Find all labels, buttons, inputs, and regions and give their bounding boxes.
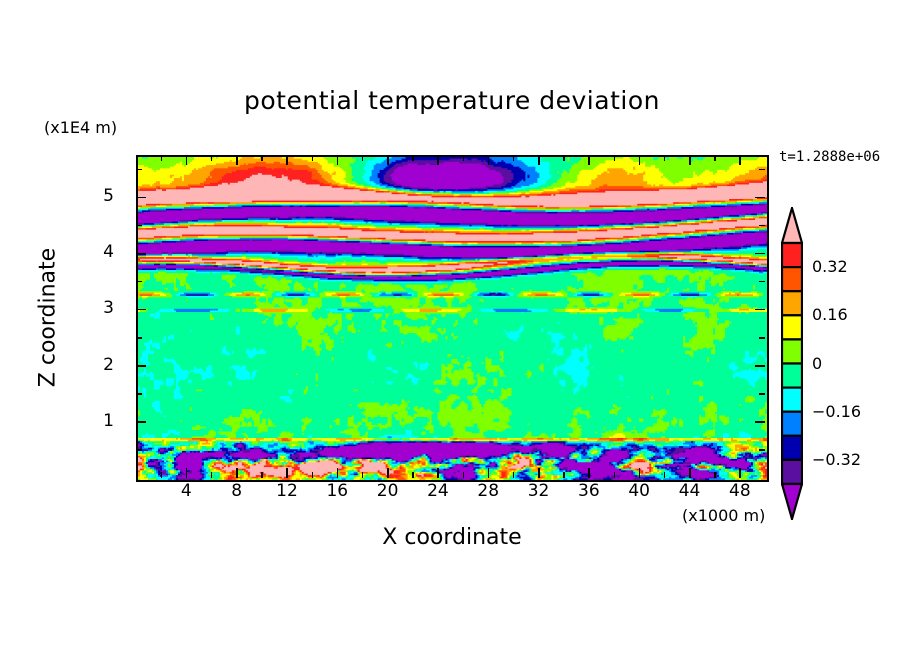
colorbar-tick-3: −0.16: [812, 402, 861, 421]
axis-tick: [755, 421, 765, 423]
z-units-label: (x1E4 m): [44, 118, 117, 137]
colorbar[interactable]: [781, 207, 803, 520]
axis-tick: [362, 472, 364, 478]
colorbar-band-4: [782, 339, 802, 363]
axis-tick: [463, 155, 465, 161]
colorbar-tick-4: −0.32: [812, 450, 861, 469]
axis-tick: [639, 155, 641, 165]
axis-tick: [759, 225, 765, 227]
x-tick-label-8: 8: [217, 481, 257, 501]
axis-tick: [261, 472, 263, 478]
axis-tick: [387, 155, 389, 165]
x-axis-label: X coordinate: [0, 525, 904, 550]
axis-tick: [714, 472, 716, 478]
axis-tick: [689, 155, 691, 165]
x-tick-label-44: 44: [670, 481, 710, 501]
y-tick-label-4: 4: [88, 242, 114, 262]
colorbar-band-9: [782, 460, 802, 484]
x-tick-label-36: 36: [569, 481, 609, 501]
axis-tick: [759, 337, 765, 339]
axis-tick: [437, 155, 439, 165]
x-tick-label-4: 4: [166, 481, 206, 501]
axis-tick: [689, 468, 691, 478]
colorbar-band-7: [782, 412, 802, 436]
axis-tick: [136, 365, 146, 367]
x-tick-label-20: 20: [368, 481, 408, 501]
axis-tick: [614, 472, 616, 478]
axis-tick: [739, 155, 741, 165]
axis-tick: [312, 155, 314, 161]
axis-tick: [211, 472, 213, 478]
axis-tick: [211, 155, 213, 161]
x-tick-label-12: 12: [267, 481, 307, 501]
axis-tick: [739, 468, 741, 478]
axis-tick: [714, 155, 716, 161]
axis-tick: [136, 309, 146, 311]
axis-tick: [639, 468, 641, 478]
axis-tick: [759, 281, 765, 283]
axis-tick: [236, 468, 238, 478]
axis-tick: [312, 472, 314, 478]
axis-tick: [588, 155, 590, 165]
axis-tick: [136, 197, 146, 199]
axis-tick: [412, 155, 414, 161]
axis-tick: [755, 365, 765, 367]
axis-tick: [286, 468, 288, 478]
axis-tick: [161, 155, 163, 161]
contour-plot-area[interactable]: [136, 155, 769, 482]
axis-tick: [513, 155, 515, 161]
axis-tick: [488, 468, 490, 478]
colorbar-tick-2: 0: [812, 354, 822, 373]
axis-tick: [755, 253, 765, 255]
axis-tick: [755, 197, 765, 199]
axis-tick: [588, 468, 590, 478]
axis-tick: [387, 468, 389, 478]
axis-tick: [261, 155, 263, 161]
axis-tick: [236, 155, 238, 165]
x-tick-label-16: 16: [317, 481, 357, 501]
axis-tick: [136, 169, 142, 171]
axis-tick: [488, 155, 490, 165]
colorbar-tick-0: 0.32: [812, 257, 848, 276]
contour-field: [138, 157, 767, 480]
axis-tick: [664, 472, 666, 478]
x-tick-label-40: 40: [619, 481, 659, 501]
axis-tick: [563, 472, 565, 478]
x-tick-label-28: 28: [468, 481, 508, 501]
colorbar-over-arrow: [782, 208, 802, 243]
axis-tick: [286, 155, 288, 165]
colorbar-band-6: [782, 388, 802, 412]
colorbar-band-5: [782, 364, 802, 388]
axis-tick: [513, 472, 515, 478]
x-tick-label-48: 48: [720, 481, 760, 501]
colorbar-tick-1: 0.16: [812, 305, 848, 324]
axis-tick: [136, 421, 146, 423]
axis-tick: [362, 155, 364, 161]
axis-tick: [759, 393, 765, 395]
figure-canvas: potential temperature deviation (x1E4 m)…: [0, 0, 904, 654]
axis-tick: [186, 155, 188, 165]
y-tick-label-3: 3: [88, 298, 114, 318]
axis-tick: [538, 155, 540, 165]
colorbar-under-arrow: [782, 484, 802, 519]
axis-tick: [186, 468, 188, 478]
axis-tick: [136, 225, 142, 227]
colorbar-band-3: [782, 315, 802, 339]
colorbar-band-0: [782, 243, 802, 267]
axis-tick: [136, 337, 142, 339]
axis-tick: [337, 155, 339, 165]
axis-tick: [136, 253, 146, 255]
y-axis-label: Z coordinate: [36, 208, 61, 428]
axis-tick: [664, 155, 666, 161]
x-tick-label-32: 32: [519, 481, 559, 501]
axis-tick: [337, 468, 339, 478]
axis-tick: [136, 281, 142, 283]
colorbar-band-2: [782, 291, 802, 315]
y-tick-label-2: 2: [88, 355, 114, 375]
time-annotation: t=1.2888e+06: [779, 149, 880, 165]
axis-tick: [755, 309, 765, 311]
y-tick-label-1: 1: [88, 411, 114, 431]
page-title: potential temperature deviation: [0, 86, 904, 115]
x-tick-label-24: 24: [418, 481, 458, 501]
axis-tick: [759, 449, 765, 451]
x-units-label: (x1000 m): [682, 506, 765, 525]
colorbar-band-1: [782, 267, 802, 291]
axis-tick: [437, 468, 439, 478]
axis-tick: [759, 169, 765, 171]
axis-tick: [463, 472, 465, 478]
axis-tick: [538, 468, 540, 478]
axis-tick: [136, 393, 142, 395]
axis-tick: [412, 472, 414, 478]
axis-tick: [563, 155, 565, 161]
axis-tick: [161, 472, 163, 478]
axis-tick: [614, 155, 616, 161]
y-tick-label-5: 5: [88, 186, 114, 206]
axis-tick: [136, 449, 142, 451]
colorbar-band-8: [782, 436, 802, 460]
